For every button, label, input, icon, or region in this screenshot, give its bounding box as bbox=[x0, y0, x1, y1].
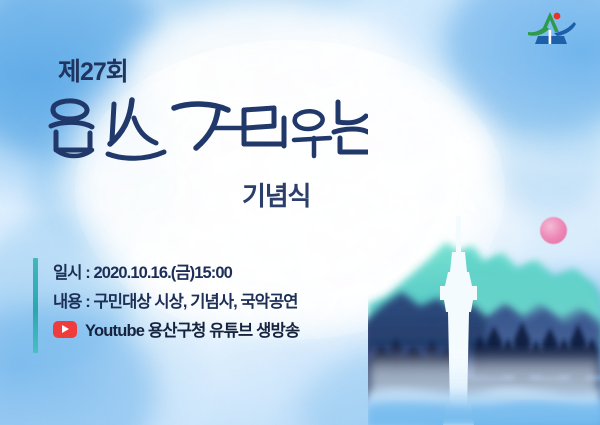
youtube-play-icon[interactable] bbox=[53, 321, 77, 338]
event-info-block: 일시 : 2020.10.16.(금)15:00 내용 : 구민대상 시상, 기… bbox=[53, 256, 383, 344]
event-ordinal: 제27회 bbox=[58, 52, 128, 88]
info-date-line: 일시 : 2020.10.16.(금)15:00 bbox=[53, 256, 383, 285]
event-subtitle: 기념식 bbox=[242, 176, 310, 213]
poster-canvas: 제27회 용산구민의 날 bbox=[0, 0, 600, 425]
info-content-line: 내용 : 구민대상 시상, 기념사, 국악공연 bbox=[53, 285, 383, 314]
broadcast-label: Youtube 용산구청 유튜브 생방송 bbox=[85, 317, 299, 341]
yongsan-gu-emblem bbox=[524, 8, 578, 48]
calligraphy-title: 용산구민의 날 bbox=[38, 88, 368, 166]
namsan-tower-watercolor bbox=[368, 200, 600, 425]
info-broadcast-line: Youtube 용산구청 유튜브 생방송 bbox=[53, 314, 383, 344]
info-accent-bar bbox=[33, 258, 38, 353]
